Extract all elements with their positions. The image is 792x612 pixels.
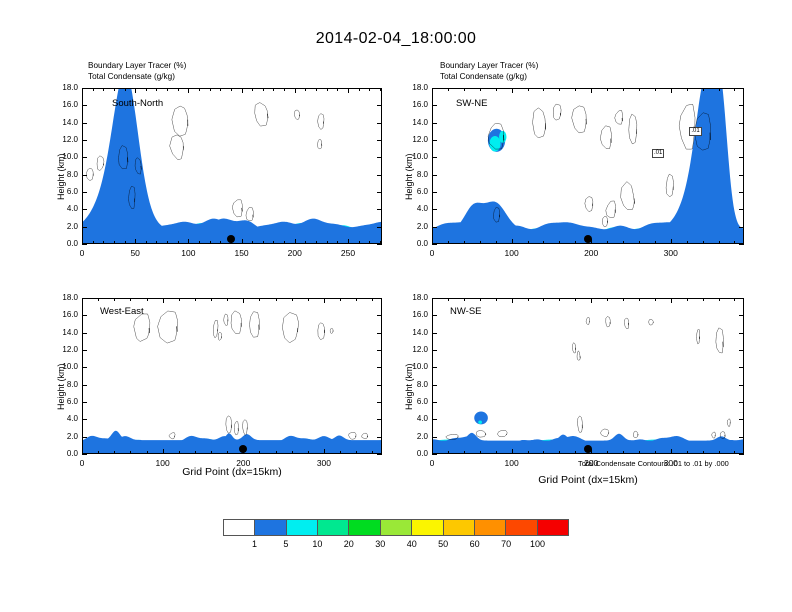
- x-minor-tick: [220, 241, 221, 244]
- y-tick-label: 0.0: [402, 239, 428, 248]
- panel-label-south-north: South-North: [112, 98, 163, 109]
- x-minor-tick: [528, 298, 529, 301]
- x-minor-tick: [163, 298, 164, 301]
- x-minor-tick: [195, 451, 196, 454]
- y-tick-label: 10.0: [402, 362, 428, 371]
- colorbar-cell-2: [287, 520, 318, 535]
- x-minor-tick: [448, 451, 449, 454]
- x-minor-tick: [543, 298, 544, 301]
- y-tick-mark: [432, 367, 437, 368]
- colorbar-cell-3: [318, 520, 349, 535]
- x-minor-tick: [114, 451, 115, 454]
- x-minor-tick: [655, 241, 656, 244]
- x-tick-label: 100: [492, 248, 532, 258]
- x-minor-tick: [259, 451, 260, 454]
- y-tick-label: 8.0: [402, 380, 428, 389]
- y-tick-mark: [377, 157, 382, 158]
- x-minor-tick: [359, 88, 360, 91]
- y-tick-label: 8.0: [52, 380, 78, 389]
- x-minor-tick: [369, 88, 370, 91]
- x-minor-tick: [607, 451, 608, 454]
- x-minor-tick: [432, 88, 433, 91]
- y-tick-mark: [432, 157, 437, 158]
- colorbar: [223, 519, 569, 536]
- y-tick-label: 18.0: [52, 83, 78, 92]
- x-minor-tick: [82, 298, 83, 301]
- x-minor-tick: [82, 88, 83, 91]
- x-minor-tick: [199, 88, 200, 91]
- x-minor-tick: [252, 241, 253, 244]
- x-minor-tick: [703, 88, 704, 91]
- x-minor-tick: [276, 451, 277, 454]
- x-minor-tick: [671, 451, 672, 454]
- y-tick-mark: [377, 175, 382, 176]
- x-tick-label: 300: [651, 248, 691, 258]
- x-minor-tick: [273, 241, 274, 244]
- y-tick-mark: [82, 192, 87, 193]
- y-tick-mark: [377, 419, 382, 420]
- y-tick-mark: [82, 175, 87, 176]
- x-tick-label: 200: [571, 458, 611, 468]
- x-minor-tick: [130, 451, 131, 454]
- x-minor-tick: [512, 298, 513, 301]
- y-tick-mark: [739, 244, 744, 245]
- y-tick-mark: [739, 209, 744, 210]
- contour-value-label: .01: [652, 149, 664, 158]
- plot-area-west-east[interactable]: [82, 298, 382, 454]
- y-tick-mark: [432, 209, 437, 210]
- x-minor-tick: [356, 298, 357, 301]
- y-tick-label: 6.0: [402, 397, 428, 406]
- x-minor-tick: [591, 451, 592, 454]
- x-minor-tick: [130, 298, 131, 301]
- x-tick-label: 50: [115, 248, 155, 258]
- y-tick-mark: [432, 315, 437, 316]
- x-minor-tick: [591, 88, 592, 91]
- x-minor-tick: [167, 241, 168, 244]
- x-tick-label: 0: [62, 458, 102, 468]
- x-minor-tick: [178, 88, 179, 91]
- x-minor-tick: [156, 241, 157, 244]
- x-tick-label: 250: [328, 248, 368, 258]
- colorbar-cell-10: [538, 520, 568, 535]
- y-tick-mark: [432, 437, 437, 438]
- y-tick-mark: [377, 298, 382, 299]
- x-minor-tick: [167, 88, 168, 91]
- x-minor-tick: [559, 298, 560, 301]
- x-minor-tick: [703, 298, 704, 301]
- x-minor-tick: [623, 451, 624, 454]
- x-minor-tick: [655, 451, 656, 454]
- y-tick-mark: [377, 140, 382, 141]
- header-line-condensate: Total Condensate (g/kg): [88, 72, 186, 83]
- x-minor-tick: [114, 298, 115, 301]
- x-minor-tick: [356, 451, 357, 454]
- y-tick-label: 8.0: [402, 170, 428, 179]
- x-minor-tick: [242, 241, 243, 244]
- header-line-condensate: Total Condensate (g/kg): [440, 72, 538, 83]
- x-minor-tick: [480, 88, 481, 91]
- x-minor-tick: [295, 88, 296, 91]
- y-tick-mark: [82, 419, 87, 420]
- x-minor-tick: [543, 241, 544, 244]
- x-minor-tick: [147, 451, 148, 454]
- x-minor-tick: [242, 88, 243, 91]
- x-minor-tick: [147, 298, 148, 301]
- x-minor-tick: [703, 241, 704, 244]
- x-minor-tick: [448, 241, 449, 244]
- x-minor-tick: [135, 88, 136, 91]
- y-tick-mark: [377, 350, 382, 351]
- x-minor-tick: [734, 298, 735, 301]
- x-minor-tick: [734, 88, 735, 91]
- x-minor-tick: [607, 298, 608, 301]
- x-minor-tick: [528, 241, 529, 244]
- colorbar-cell-0: [224, 520, 255, 535]
- x-tick-label: 300: [304, 458, 344, 468]
- x-minor-tick: [156, 88, 157, 91]
- y-tick-label: 16.0: [402, 100, 428, 109]
- colorbar-cell-9: [506, 520, 537, 535]
- y-tick-mark: [82, 367, 87, 368]
- y-tick-label: 2.0: [402, 222, 428, 231]
- y-tick-mark: [739, 402, 744, 403]
- x-minor-tick: [348, 88, 349, 91]
- x-tick-label: 0: [412, 248, 452, 258]
- y-tick-mark: [739, 123, 744, 124]
- x-tick-label: 300: [651, 458, 691, 468]
- y-tick-mark: [432, 123, 437, 124]
- x-minor-tick: [480, 241, 481, 244]
- plot-area-nw-se[interactable]: [432, 298, 744, 454]
- x-tick-label: 200: [571, 248, 611, 258]
- x-tick-label: 100: [168, 248, 208, 258]
- x-minor-tick: [719, 241, 720, 244]
- panel-header-south-north: Boundary Layer Tracer (%) Total Condensa…: [88, 61, 186, 82]
- x-minor-tick: [308, 298, 309, 301]
- x-minor-tick: [512, 451, 513, 454]
- y-tick-mark: [377, 315, 382, 316]
- x-minor-tick: [543, 451, 544, 454]
- y-tick-mark: [82, 157, 87, 158]
- header-line-tracer: Boundary Layer Tracer (%): [440, 61, 538, 72]
- x-minor-tick: [543, 88, 544, 91]
- x-tick-label: 0: [62, 248, 102, 258]
- tracer-field-sw-ne: [433, 89, 743, 243]
- x-minor-tick: [308, 451, 309, 454]
- y-tick-mark: [82, 209, 87, 210]
- y-tick-label: 18.0: [402, 83, 428, 92]
- y-tick-mark: [739, 367, 744, 368]
- x-minor-tick: [623, 298, 624, 301]
- x-minor-tick: [125, 241, 126, 244]
- x-tick-label: 0: [412, 458, 452, 468]
- x-minor-tick: [734, 241, 735, 244]
- x-minor-tick: [179, 451, 180, 454]
- x-minor-tick: [639, 298, 640, 301]
- y-tick-mark: [377, 209, 382, 210]
- x-minor-tick: [432, 241, 433, 244]
- y-tick-mark: [739, 437, 744, 438]
- y-tick-mark: [432, 333, 437, 334]
- x-minor-tick: [146, 241, 147, 244]
- colorbar-cell-1: [255, 520, 286, 535]
- x-minor-tick: [464, 241, 465, 244]
- x-minor-tick: [284, 241, 285, 244]
- x-minor-tick: [135, 241, 136, 244]
- y-tick-mark: [432, 192, 437, 193]
- y-tick-mark: [739, 315, 744, 316]
- y-tick-label: 2.0: [52, 222, 78, 231]
- x-minor-tick: [316, 88, 317, 91]
- y-tick-mark: [739, 419, 744, 420]
- y-tick-mark: [739, 298, 744, 299]
- x-minor-tick: [199, 241, 200, 244]
- x-minor-tick: [93, 241, 94, 244]
- x-minor-tick: [559, 451, 560, 454]
- x-minor-tick: [178, 241, 179, 244]
- y-tick-mark: [739, 333, 744, 334]
- y-tick-label: 4.0: [402, 204, 428, 213]
- x-minor-tick: [259, 298, 260, 301]
- x-minor-tick: [82, 451, 83, 454]
- x-tick-label: 100: [492, 458, 532, 468]
- x-minor-tick: [496, 451, 497, 454]
- x-tick-label: 200: [223, 458, 263, 468]
- x-minor-tick: [348, 241, 349, 244]
- x-minor-tick: [327, 88, 328, 91]
- x-minor-tick: [359, 241, 360, 244]
- y-tick-mark: [432, 244, 437, 245]
- panel-label-sw-ne: SW-NE: [456, 98, 488, 109]
- plot-area-sw-ne[interactable]: [432, 88, 744, 244]
- x-minor-tick: [273, 88, 274, 91]
- x-minor-tick: [188, 241, 189, 244]
- x-minor-tick: [195, 298, 196, 301]
- y-tick-label: 0.0: [402, 449, 428, 458]
- x-minor-tick: [163, 451, 164, 454]
- x-minor-tick: [559, 241, 560, 244]
- y-tick-mark: [377, 385, 382, 386]
- x-minor-tick: [734, 451, 735, 454]
- x-minor-tick: [575, 88, 576, 91]
- x-minor-tick: [220, 88, 221, 91]
- y-tick-mark: [82, 454, 87, 455]
- y-tick-mark: [82, 123, 87, 124]
- y-tick-label: 16.0: [402, 310, 428, 319]
- x-minor-tick: [210, 241, 211, 244]
- colorbar-cell-7: [444, 520, 475, 535]
- x-minor-tick: [380, 88, 381, 91]
- y-tick-label: 14.0: [52, 118, 78, 127]
- y-tick-mark: [82, 227, 87, 228]
- x-minor-tick: [227, 451, 228, 454]
- x-minor-tick: [671, 298, 672, 301]
- y-tick-label: 16.0: [52, 100, 78, 109]
- y-tick-mark: [82, 105, 87, 106]
- panel-label-west-east: West-East: [100, 306, 144, 317]
- tracer-field-nw-se: [433, 299, 743, 453]
- x-minor-tick: [432, 298, 433, 301]
- x-minor-tick: [327, 241, 328, 244]
- y-tick-mark: [377, 333, 382, 334]
- y-tick-mark: [377, 227, 382, 228]
- y-tick-mark: [377, 123, 382, 124]
- y-tick-mark: [432, 419, 437, 420]
- y-tick-label: 4.0: [402, 414, 428, 423]
- x-minor-tick: [337, 88, 338, 91]
- y-tick-label: 6.0: [52, 397, 78, 406]
- x-minor-tick: [125, 88, 126, 91]
- x-tick-label: 100: [143, 458, 183, 468]
- x-minor-tick: [179, 298, 180, 301]
- x-minor-tick: [687, 241, 688, 244]
- x-minor-tick: [324, 298, 325, 301]
- y-tick-label: 4.0: [52, 414, 78, 423]
- x-minor-tick: [496, 88, 497, 91]
- x-minor-tick: [337, 241, 338, 244]
- y-tick-mark: [82, 350, 87, 351]
- x-minor-tick: [687, 298, 688, 301]
- y-tick-label: 2.0: [402, 432, 428, 441]
- y-tick-label: 14.0: [52, 328, 78, 337]
- x-minor-tick: [480, 298, 481, 301]
- y-tick-mark: [377, 244, 382, 245]
- y-tick-label: 12.0: [52, 345, 78, 354]
- y-tick-mark: [739, 192, 744, 193]
- x-minor-tick: [305, 88, 306, 91]
- x-minor-tick: [369, 241, 370, 244]
- x-axis-title-nwse: Grid Point (dx=15km): [432, 474, 744, 486]
- x-minor-tick: [210, 88, 211, 91]
- y-tick-mark: [739, 105, 744, 106]
- tracer-field-south-north: [83, 89, 381, 243]
- plot-area-south-north[interactable]: [82, 88, 382, 244]
- x-minor-tick: [211, 298, 212, 301]
- x-minor-tick: [639, 241, 640, 244]
- x-minor-tick: [448, 88, 449, 91]
- y-tick-label: 8.0: [52, 170, 78, 179]
- y-tick-mark: [739, 385, 744, 386]
- panel-label-nw-se: NW-SE: [450, 306, 482, 317]
- x-minor-tick: [496, 241, 497, 244]
- y-tick-label: 14.0: [402, 118, 428, 127]
- y-tick-label: 10.0: [52, 152, 78, 161]
- x-minor-tick: [687, 451, 688, 454]
- y-tick-label: 2.0: [52, 432, 78, 441]
- y-tick-label: 16.0: [52, 310, 78, 319]
- y-tick-mark: [432, 105, 437, 106]
- y-tick-mark: [377, 105, 382, 106]
- y-tick-mark: [432, 385, 437, 386]
- x-minor-tick: [146, 88, 147, 91]
- y-tick-mark: [739, 227, 744, 228]
- y-tick-mark: [739, 350, 744, 351]
- y-tick-mark: [82, 244, 87, 245]
- x-minor-tick: [372, 451, 373, 454]
- figure-title: 2014-02-04_18:00:00: [0, 30, 792, 48]
- x-minor-tick: [114, 88, 115, 91]
- x-minor-tick: [496, 298, 497, 301]
- x-minor-tick: [243, 298, 244, 301]
- x-minor-tick: [528, 88, 529, 91]
- y-tick-label: 0.0: [52, 239, 78, 248]
- x-minor-tick: [372, 298, 373, 301]
- colorbar-cell-4: [349, 520, 380, 535]
- x-minor-tick: [655, 88, 656, 91]
- contour-value-label: .01: [689, 127, 701, 136]
- x-minor-tick: [591, 241, 592, 244]
- x-minor-tick: [464, 88, 465, 91]
- y-tick-mark: [82, 315, 87, 316]
- y-tick-mark: [432, 175, 437, 176]
- x-minor-tick: [528, 451, 529, 454]
- y-tick-mark: [739, 454, 744, 455]
- colorbar-cell-8: [475, 520, 506, 535]
- x-minor-tick: [188, 88, 189, 91]
- x-minor-tick: [655, 298, 656, 301]
- x-minor-tick: [607, 88, 608, 91]
- x-minor-tick: [719, 451, 720, 454]
- x-minor-tick: [292, 298, 293, 301]
- y-tick-label: 6.0: [52, 187, 78, 196]
- x-minor-tick: [98, 451, 99, 454]
- x-minor-tick: [464, 451, 465, 454]
- x-minor-tick: [719, 298, 720, 301]
- x-minor-tick: [292, 451, 293, 454]
- x-minor-tick: [575, 451, 576, 454]
- y-tick-mark: [377, 192, 382, 193]
- y-tick-mark: [82, 333, 87, 334]
- colorbar-cell-6: [412, 520, 443, 535]
- y-tick-label: 10.0: [402, 152, 428, 161]
- y-tick-mark: [432, 140, 437, 141]
- colorbar-label: 100: [520, 539, 556, 549]
- x-minor-tick: [591, 298, 592, 301]
- x-minor-tick: [703, 451, 704, 454]
- y-tick-mark: [432, 402, 437, 403]
- y-tick-mark: [82, 402, 87, 403]
- x-minor-tick: [211, 451, 212, 454]
- x-minor-tick: [512, 88, 513, 91]
- colorbar-cell-5: [381, 520, 412, 535]
- y-tick-mark: [739, 88, 744, 89]
- y-tick-mark: [739, 157, 744, 158]
- x-minor-tick: [276, 298, 277, 301]
- y-tick-mark: [432, 454, 437, 455]
- x-minor-tick: [671, 241, 672, 244]
- x-minor-tick: [98, 298, 99, 301]
- x-minor-tick: [687, 88, 688, 91]
- x-minor-tick: [639, 88, 640, 91]
- y-tick-mark: [377, 454, 382, 455]
- y-tick-label: 0.0: [52, 449, 78, 458]
- y-tick-label: 14.0: [402, 328, 428, 337]
- x-minor-tick: [284, 88, 285, 91]
- y-tick-label: 12.0: [52, 135, 78, 144]
- y-tick-mark: [377, 402, 382, 403]
- x-minor-tick: [263, 241, 264, 244]
- x-minor-tick: [623, 88, 624, 91]
- x-minor-tick: [671, 88, 672, 91]
- y-tick-label: 12.0: [402, 135, 428, 144]
- x-minor-tick: [380, 241, 381, 244]
- x-minor-tick: [448, 298, 449, 301]
- x-minor-tick: [575, 241, 576, 244]
- x-minor-tick: [263, 88, 264, 91]
- x-tick-label: 150: [222, 248, 262, 258]
- x-minor-tick: [324, 451, 325, 454]
